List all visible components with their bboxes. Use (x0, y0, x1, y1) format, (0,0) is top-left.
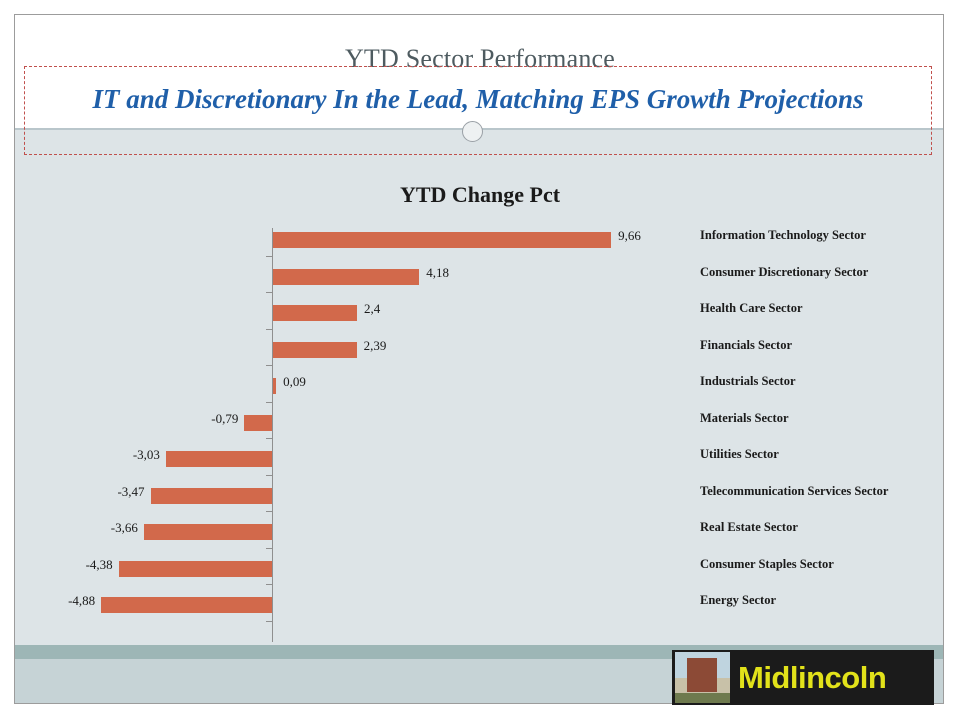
bar (151, 488, 272, 504)
axis-tick (266, 511, 272, 512)
category-label: Health Care Sector (700, 301, 803, 316)
bar-value-label: -3,03 (120, 447, 160, 463)
bar-row: -4,88Energy Sector (40, 587, 920, 624)
logo: Midlincoln (672, 650, 934, 705)
bar (144, 524, 272, 540)
rotate-handle[interactable] (462, 121, 483, 142)
axis-tick (266, 475, 272, 476)
slide: YTD Sector Performance IT and Discretion… (0, 0, 960, 720)
bar-row: -3,47Telecommunication Services Sector (40, 478, 920, 515)
category-label: Materials Sector (700, 411, 789, 426)
bar-value-label: -3,47 (105, 484, 145, 500)
bar (166, 451, 272, 467)
category-label: Consumer Staples Sector (700, 557, 834, 572)
category-label: Consumer Discretionary Sector (700, 265, 868, 280)
bar-row: -3,03Utilities Sector (40, 441, 920, 478)
bar-row: -4,38Consumer Staples Sector (40, 551, 920, 588)
category-label: Industrials Sector (700, 374, 796, 389)
bar-value-label: -0,79 (198, 411, 238, 427)
bar (273, 269, 419, 285)
bar-value-label: 2,39 (364, 338, 387, 354)
bar (119, 561, 272, 577)
logo-ground (675, 693, 730, 703)
bar-row: 2,4Health Care Sector (40, 295, 920, 332)
bar-row: 9,66Information Technology Sector (40, 222, 920, 259)
logo-building (687, 658, 717, 692)
bar-value-label: -4,88 (55, 593, 95, 609)
logo-text: Midlincoln (738, 660, 886, 696)
category-label: Utilities Sector (700, 447, 779, 462)
bar (273, 232, 611, 248)
category-label: Energy Sector (700, 593, 776, 608)
axis-tick (266, 621, 272, 622)
bar-value-label: 4,18 (426, 265, 449, 281)
category-label: Real Estate Sector (700, 520, 798, 535)
bar-row: 0,09Industrials Sector (40, 368, 920, 405)
chart-title: YTD Change Pct (0, 182, 960, 208)
axis-tick (266, 584, 272, 585)
axis-tick (266, 256, 272, 257)
bar (273, 342, 357, 358)
bar (244, 415, 272, 431)
bar-row: 2,39Financials Sector (40, 332, 920, 369)
bar-row: -3,66Real Estate Sector (40, 514, 920, 551)
axis-tick (266, 402, 272, 403)
bar-row: -0,79Materials Sector (40, 405, 920, 442)
bar-value-label: 2,4 (364, 301, 380, 317)
bar-value-label: 9,66 (618, 228, 641, 244)
bar (273, 378, 276, 394)
axis-tick (266, 548, 272, 549)
headline-text: IT and Discretionary In the Lead, Matchi… (24, 80, 932, 118)
category-label: Financials Sector (700, 338, 792, 353)
axis-tick (266, 365, 272, 366)
axis-tick (266, 438, 272, 439)
bar-value-label: -4,38 (73, 557, 113, 573)
axis-tick (266, 292, 272, 293)
category-label: Information Technology Sector (700, 228, 866, 243)
category-label: Telecommunication Services Sector (700, 484, 888, 499)
axis-tick (266, 329, 272, 330)
logo-image (675, 652, 730, 703)
bar (273, 305, 357, 321)
bar-value-label: 0,09 (283, 374, 306, 390)
bar (101, 597, 272, 613)
bar-value-label: -3,66 (98, 520, 138, 536)
bar-row: 4,18Consumer Discretionary Sector (40, 259, 920, 296)
chart-plot-area: 9,66Information Technology Sector4,18Con… (40, 222, 920, 642)
